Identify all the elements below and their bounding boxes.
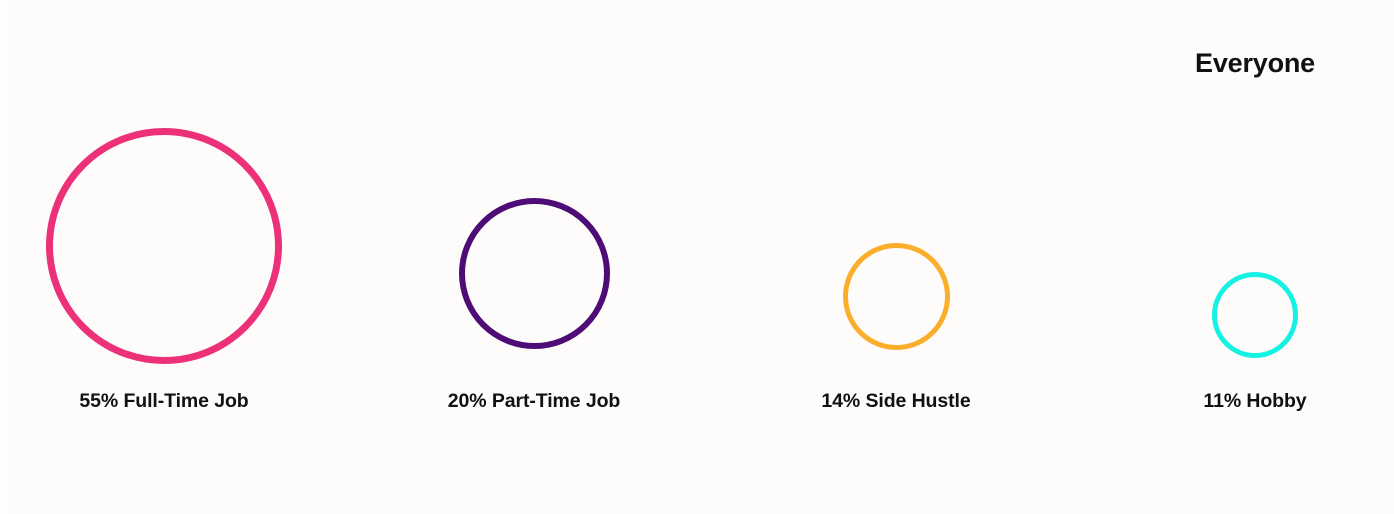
bubble-label: 20% Part-Time Job <box>369 392 699 412</box>
bubble-item: 20% Part-Time Job <box>369 0 699 514</box>
bubble-ring-full-time-job <box>46 128 282 364</box>
bubble-series-layer: 55% Full-Time Job20% Part-Time Job14% Si… <box>0 0 1394 514</box>
bubble-item: 55% Full-Time Job <box>0 0 329 514</box>
bubble-item: 11% Hobby <box>1090 0 1394 514</box>
bubble-ring-hobby <box>1212 272 1298 358</box>
bubble-ring-side-hustle <box>843 243 950 350</box>
bubble-ring-part-time-job <box>459 198 610 349</box>
bubble-item: 14% Side Hustle <box>731 0 1061 514</box>
bubble-label: 14% Side Hustle <box>731 392 1061 412</box>
bubble-label: 55% Full-Time Job <box>0 392 329 412</box>
bubble-label: 11% Hobby <box>1090 392 1394 412</box>
bubble-chart: Everyone 55% Full-Time Job20% Part-Time … <box>0 0 1394 514</box>
